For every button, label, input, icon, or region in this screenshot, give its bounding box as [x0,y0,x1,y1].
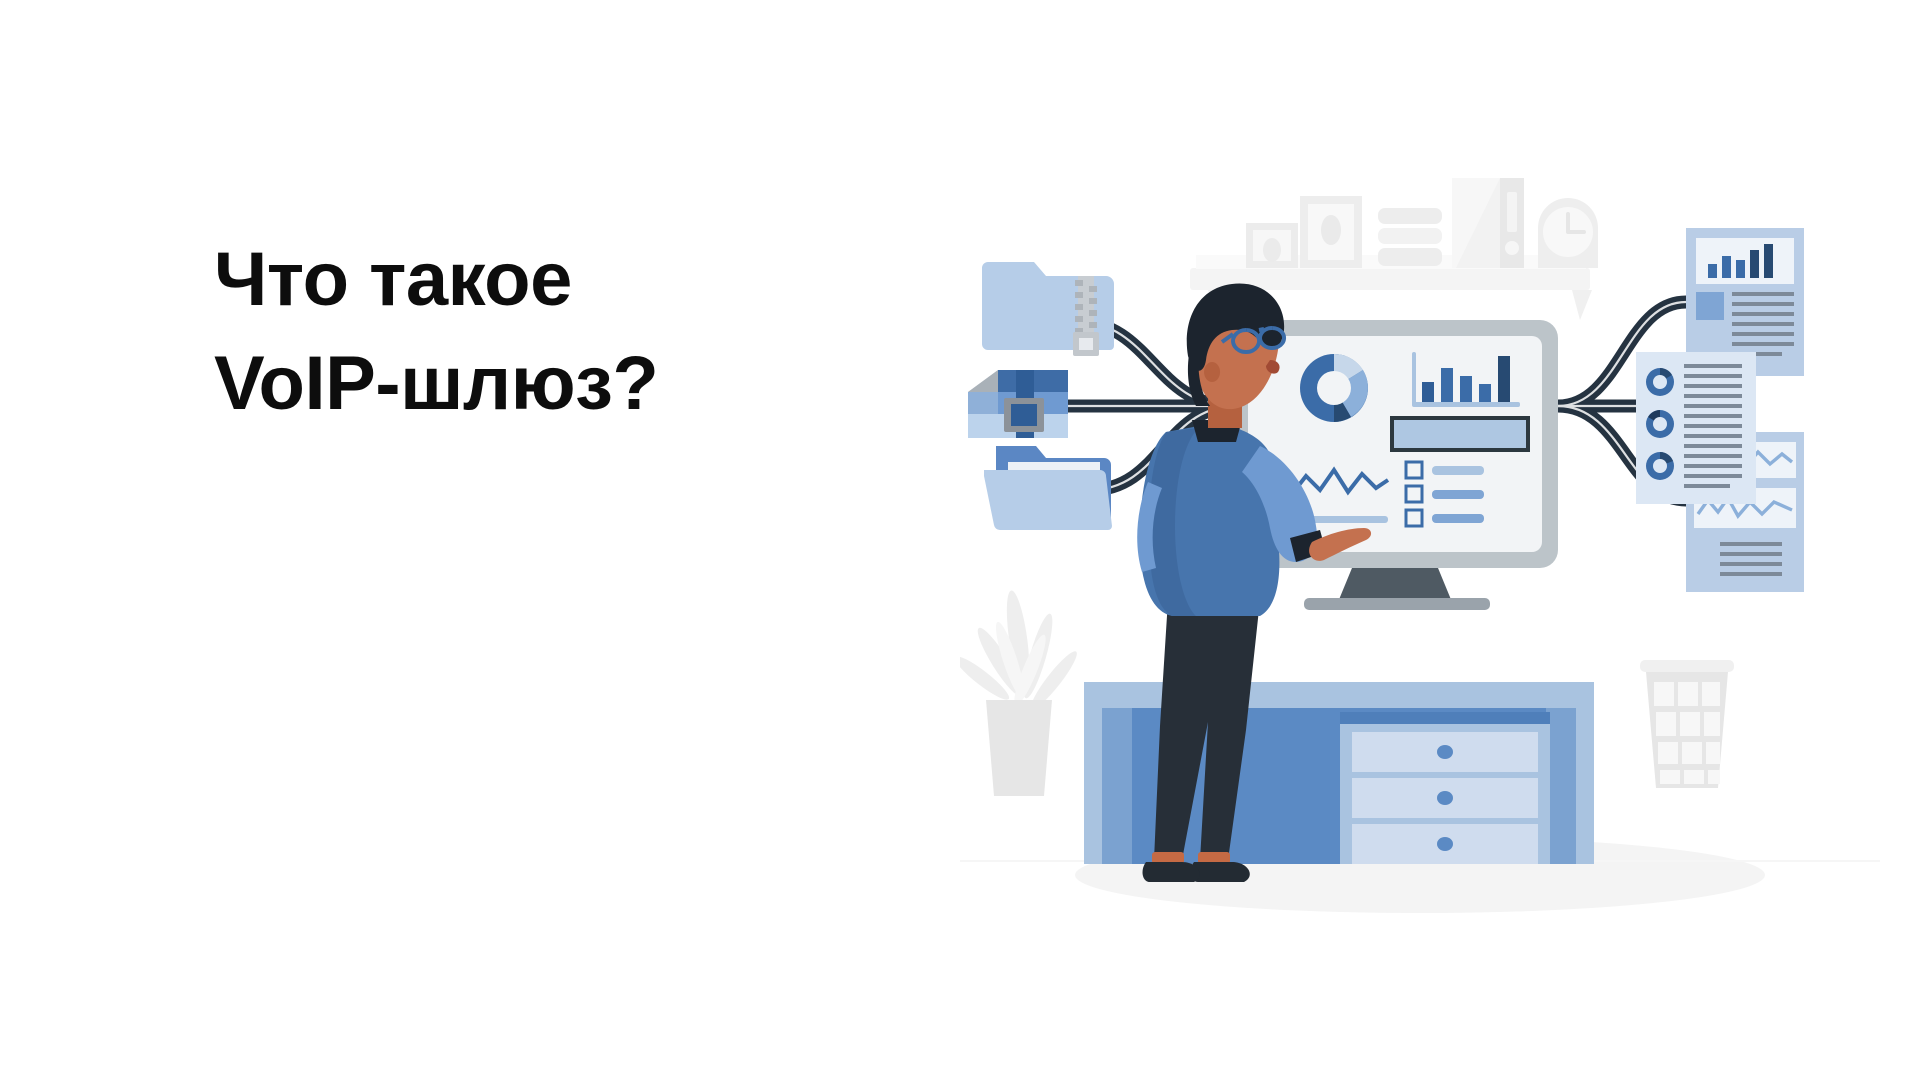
page-title: Что такое VoIP-шлюз? [214,228,974,436]
page-root: Что такое VoIP-шлюз? [0,0,1920,1080]
drawer-unit [1340,712,1550,864]
donut-chart [1300,354,1368,422]
page-title-line-1: Что такое [214,228,974,332]
wastebasket [1640,660,1734,788]
desk-clock [1538,198,1598,268]
drawer [1352,732,1538,772]
search-bar [1390,416,1530,452]
zip-folder [982,262,1114,356]
picture-frame-small [1246,223,1298,268]
stacked-books [1378,208,1442,266]
document-card-text [1636,352,1756,504]
picture-frame-large [1300,196,1362,268]
doc-donut-icons [1646,368,1674,480]
archive-box [968,370,1068,438]
drawer [1352,824,1538,864]
open-folder [984,446,1112,530]
binder-folder [1452,178,1524,268]
potted-plant [960,589,1082,796]
drawer [1352,778,1538,818]
page-title-line-2: VoIP-шлюз? [214,332,974,436]
hero-illustration [960,170,1880,930]
